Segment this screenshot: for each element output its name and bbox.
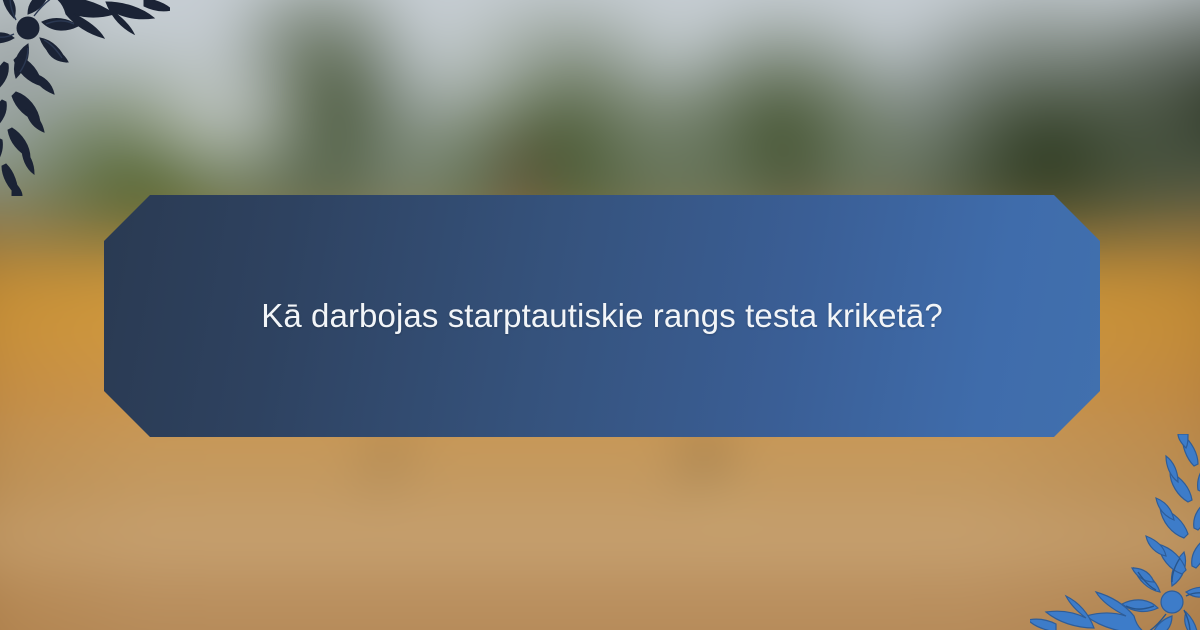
title-banner: Kā darbojas starptautiskie rangs testa k…: [104, 195, 1100, 437]
card-canvas: Kā darbojas starptautiskie rangs testa k…: [0, 0, 1200, 630]
page-title: Kā darbojas starptautiskie rangs testa k…: [252, 290, 952, 341]
